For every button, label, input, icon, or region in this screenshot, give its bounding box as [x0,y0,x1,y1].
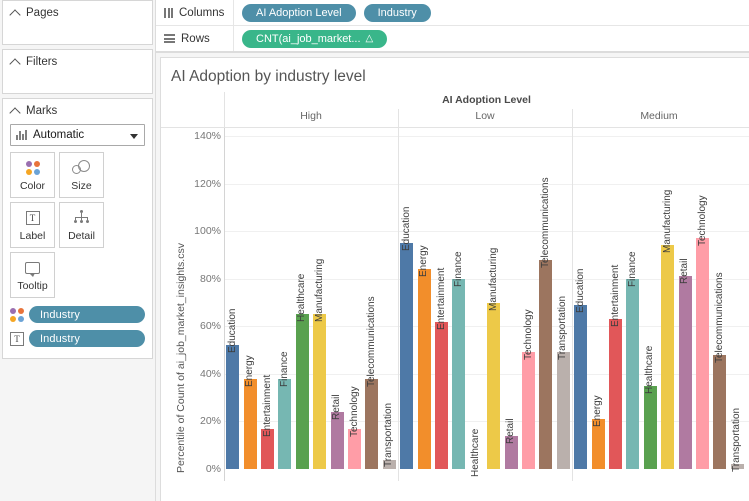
bar-label-medium-telecommunications: Telecommunications [714,272,725,363]
worksheet-pane: Columns AI Adoption Level Industry Rows … [156,0,749,501]
marks-label-pill-row: T Industry [3,328,152,355]
detail-button-label: Detail [68,230,95,242]
header-divider [224,92,225,128]
columns-shelf[interactable]: Columns AI Adoption Level Industry [156,0,749,26]
filters-card-header[interactable]: Filters [3,50,152,73]
bar-high-telecommunications[interactable] [365,379,378,469]
marks-color-pill-row: Industry [3,304,152,325]
pages-card: Pages [2,0,153,45]
bar-label-medium-energy: Energy [592,395,603,427]
detail-hierarchy-icon [73,208,91,227]
marks-pill-label-industry[interactable]: Industry [29,330,145,347]
bar-label-low-manufacturing: Manufacturing [488,247,499,310]
rows-shelf-label-group: Rows [156,26,234,51]
mark-type-value: Automatic [33,129,84,141]
plot-area: Percentile of Count of ai_job_market_ins… [161,128,749,481]
bar-medium-finance[interactable] [626,279,639,469]
page-title: AI Adoption by industry level [161,58,749,92]
marks-buttons: Color Size T Label [3,152,152,304]
size-button-label: Size [71,180,91,192]
bar-label-low-retail: Retail [505,418,516,444]
bar-high-finance[interactable] [278,379,291,469]
y-axis-line [224,128,225,481]
bar-mark-icon [16,130,27,140]
bar-high-manufacturing[interactable] [313,314,326,469]
label-button-label: Label [20,230,46,242]
filters-drop-zone[interactable] [3,73,152,93]
bar-medium-retail[interactable] [679,276,692,469]
chevron-down-icon[interactable] [130,134,138,139]
bar-low-technology[interactable] [522,352,535,469]
color-dots-icon [10,308,24,322]
panel-divider [398,128,399,481]
bar-medium-education[interactable] [574,305,587,469]
rows-pill-label: CNT(ai_job_market... [256,33,361,45]
bar-low-entertainment[interactable] [435,322,448,469]
y-axis-tick-label: 60% [175,320,221,332]
rows-icon [164,34,175,44]
panel-header-low[interactable]: Low [398,110,572,122]
gridline [224,184,749,185]
bar-label-medium-healthcare: Healthcare [644,345,655,393]
viz-canvas: AI Adoption by industry level AI Adoptio… [160,57,749,501]
filters-card: Filters [2,49,153,94]
panel-divider [572,128,573,481]
chevron-collapse-icon[interactable] [11,9,20,18]
marks-card: Marks Automatic Color Size [2,98,153,359]
columns-pill-ai-adoption-level[interactable]: AI Adoption Level [242,4,356,22]
left-sidebar: Pages Filters Marks Automatic [0,0,156,501]
bar-low-manufacturing[interactable] [487,303,500,470]
pages-drop-zone[interactable] [3,24,152,44]
bar-label-low-technology: Technology [523,310,534,361]
y-axis-tick-label: 80% [175,273,221,285]
bar-label-high-healthcare: Healthcare [296,274,307,322]
mark-type-dropdown[interactable]: Automatic [10,124,145,146]
bar-low-transportation[interactable] [557,352,570,469]
tooltip-button-label: Tooltip [17,280,47,292]
rows-shelf[interactable]: Rows CNT(ai_job_market... △ [156,26,749,52]
rows-pills: CNT(ai_job_market... △ [234,30,387,48]
y-axis-tick-label: 120% [175,178,221,190]
bar-high-retail[interactable] [331,412,344,469]
bar-label-medium-finance: Finance [627,251,638,287]
tooltip-bubble-icon [25,258,40,277]
y-axis-tick-label: 100% [175,225,221,237]
bar-high-healthcare[interactable] [296,314,309,469]
rows-shelf-label: Rows [181,33,210,45]
tooltip-button[interactable]: Tooltip [10,252,55,298]
bar-label-medium-education: Education [575,268,586,312]
panel-header-high[interactable]: High [224,110,398,122]
bar-label-medium-transportation: Transportation [731,408,742,472]
color-button[interactable]: Color [10,152,55,198]
y-axis-tick-label: 20% [175,415,221,427]
bar-label-low-energy: Energy [418,246,429,278]
label-button[interactable]: T Label [10,202,55,248]
marks-card-header[interactable]: Marks [3,99,152,122]
bar-low-education[interactable] [400,243,413,469]
label-text-icon: T [26,208,40,227]
bar-label-high-technology: Technology [349,386,360,437]
bar-medium-technology[interactable] [696,238,709,469]
column-field-title: AI Adoption Level [224,94,749,106]
panel-header-row: HighLowMedium [161,109,749,128]
bar-medium-healthcare[interactable] [644,386,657,469]
chevron-collapse-icon[interactable] [11,58,20,67]
bar-medium-manufacturing[interactable] [661,245,674,469]
marks-card-label: Marks [26,105,57,117]
color-button-label: Color [20,180,45,192]
columns-shelf-label-group: Columns [156,0,234,25]
bar-label-low-entertainment: Entertainment [436,267,447,329]
detail-button[interactable]: Detail [59,202,104,248]
bar-medium-entertainment[interactable] [609,319,622,469]
columns-pills: AI Adoption Level Industry [234,4,431,22]
filters-card-label: Filters [26,56,57,68]
marks-pill-color-industry[interactable]: Industry [29,306,145,323]
label-text-icon: T [10,332,24,346]
pages-card-header[interactable]: Pages [3,1,152,24]
bar-low-energy[interactable] [418,269,431,469]
bar-label-low-finance: Finance [453,251,464,287]
bar-label-low-transportation: Transportation [557,296,568,360]
bar-high-energy[interactable] [244,379,257,469]
bar-label-high-retail: Retail [331,394,342,420]
pages-card-label: Pages [26,7,59,19]
bar-medium-telecommunications[interactable] [713,355,726,469]
bar-label-medium-retail: Retail [679,259,690,285]
bar-label-low-healthcare: Healthcare [470,429,481,477]
gridline [224,136,749,137]
bar-label-high-transportation: Transportation [383,403,394,467]
y-axis-tick-label: 140% [175,130,221,142]
bar-label-low-education: Education [401,207,412,251]
bar-label-high-education: Education [227,309,238,353]
table-calc-triangle-icon: △ [366,34,374,44]
bar-high-education[interactable] [226,345,239,469]
shelves: Columns AI Adoption Level Industry Rows … [156,0,749,53]
bar-label-high-energy: Energy [244,355,255,387]
panel-divider [572,109,573,128]
size-button[interactable]: Size [59,152,104,198]
panel-divider [398,109,399,128]
y-axis-tick-label: 40% [175,368,221,380]
bar-label-low-telecommunications: Telecommunications [540,177,551,268]
columns-pill-industry[interactable]: Industry [364,4,431,22]
panel-header-medium[interactable]: Medium [572,110,746,122]
size-circles-icon [72,158,91,177]
column-field-title-row: AI Adoption Level [161,92,749,109]
bar-label-high-telecommunications: Telecommunications [366,296,377,387]
bar-low-telecommunications[interactable] [539,260,552,469]
columns-icon [164,8,173,18]
color-dots-icon [26,158,40,177]
bar-label-medium-manufacturing: Manufacturing [662,190,673,253]
viz-container: AI Adoption by industry level AI Adoptio… [156,53,749,501]
bar-label-high-manufacturing: Manufacturing [314,259,325,322]
rows-pill-cnt-measure[interactable]: CNT(ai_job_market... △ [242,30,387,48]
bar-label-medium-technology: Technology [697,196,708,247]
tableau-worksheet: Pages Filters Marks Automatic [0,0,749,501]
y-axis-tick-label: 0% [175,463,221,475]
chevron-collapse-icon[interactable] [11,107,20,116]
columns-shelf-label: Columns [179,7,224,19]
bar-label-high-entertainment: Entertainment [262,374,273,436]
bar-label-high-finance: Finance [279,351,290,387]
bar-low-finance[interactable] [452,279,465,469]
column-headers: AI Adoption Level HighLowMedium [161,92,749,128]
bar-label-medium-entertainment: Entertainment [610,265,621,327]
